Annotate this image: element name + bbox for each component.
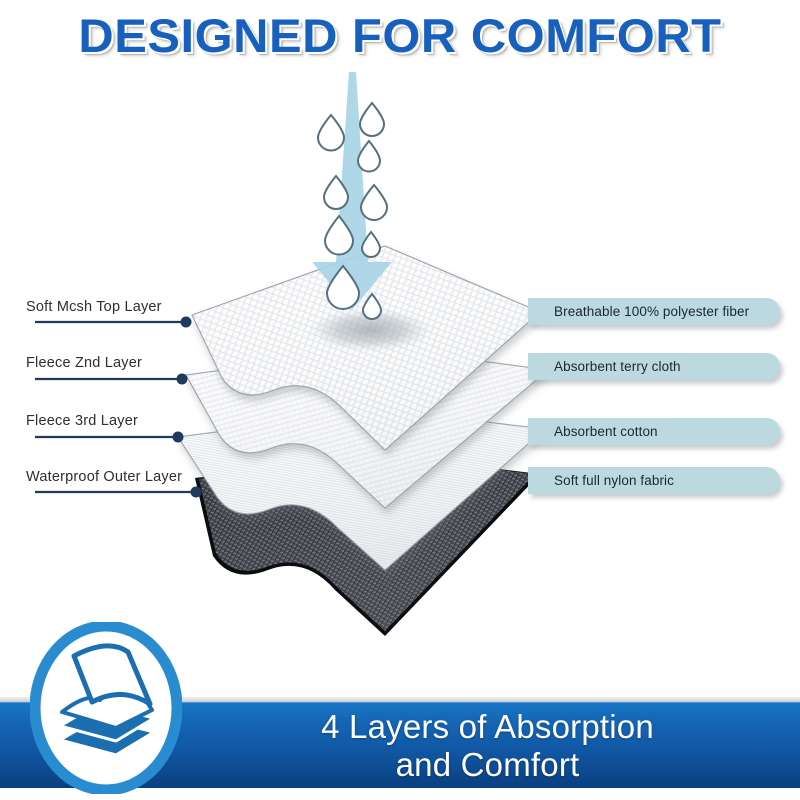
- banner-line-2: and Comfort: [215, 746, 760, 784]
- leader-line-3: [35, 432, 184, 443]
- banner-line-1: 4 Layers of Absorption: [215, 708, 760, 746]
- callout-terry-cloth: Absorbent terry cloth: [528, 353, 780, 380]
- callout-absorbent-cotton: Absorbent cotton: [528, 418, 780, 445]
- callout-breathable-polyester: Breathable 100% polyester fiber: [528, 298, 780, 325]
- callout-nylon-fabric: Soft full nylon fabric: [528, 467, 780, 494]
- label-fleece-second-layer: Fleece Znd Layer: [26, 355, 142, 371]
- leader-line-2: [35, 374, 188, 385]
- infographic-canvas: DESIGNED FOR COMFORT: [0, 0, 800, 800]
- banner-headline: 4 Layers of Absorption and Comfort: [215, 708, 760, 784]
- layers-badge: [30, 622, 182, 794]
- leader-line-4: [35, 487, 202, 498]
- leader-line-1: [35, 317, 192, 328]
- label-waterproof-outer-layer: Waterproof Outer Layer: [26, 469, 182, 485]
- label-mesh-top-layer: Soft Mcsh Top Layer: [26, 299, 162, 315]
- label-fleece-third-layer: Fleece 3rd Layer: [26, 413, 138, 429]
